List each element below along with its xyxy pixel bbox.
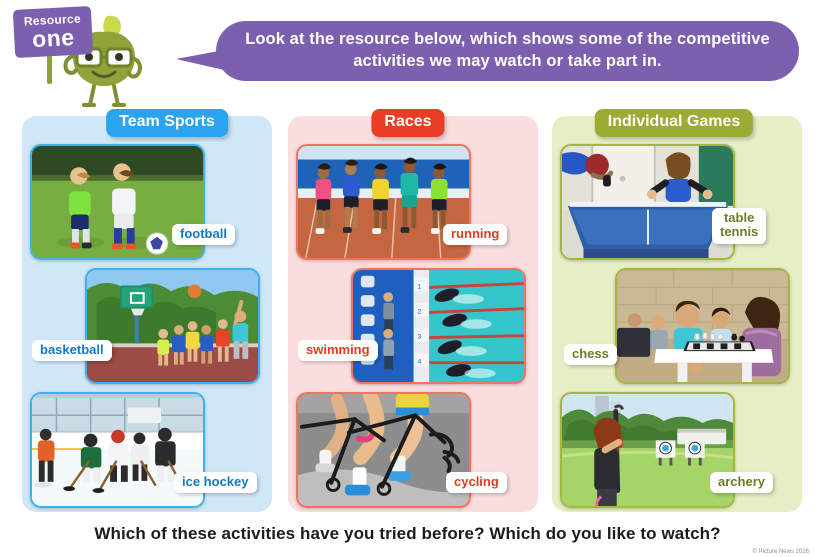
photo-basketball[interactable]: [85, 268, 260, 384]
column-individual-games: Individual Games: [552, 116, 802, 512]
label-ice-hockey: ice hockey: [174, 472, 257, 493]
label-running: running: [443, 224, 507, 245]
photo-chess[interactable]: [615, 268, 790, 384]
copyright-notice: © Picture News 2026: [753, 549, 809, 555]
column-team-sports: Team Sports: [22, 116, 272, 512]
category-badge-team-sports: Team Sports: [106, 109, 228, 137]
category-badge-individual-games: Individual Games: [595, 109, 753, 137]
label-swimming: swimming: [298, 340, 378, 361]
photo-cycling[interactable]: [296, 392, 471, 508]
label-football: football: [172, 224, 235, 245]
logo-line-one: one: [32, 26, 76, 51]
label-table-tennis: table tennis: [712, 208, 766, 244]
instruction-text: Look at the resource below, which shows …: [216, 29, 799, 73]
category-badge-races: Races: [371, 109, 444, 137]
svg-text:2: 2: [417, 308, 421, 315]
footer-question: Which of these activities have you tried…: [0, 524, 815, 544]
svg-text:3: 3: [417, 334, 421, 341]
label-chess: chess: [564, 344, 617, 365]
resource-one-logo: Resource one: [13, 6, 93, 58]
svg-text:4: 4: [417, 359, 421, 366]
photo-swimming[interactable]: 1234: [351, 268, 526, 384]
photo-table-tennis[interactable]: [560, 144, 735, 260]
category-columns: Team Sports: [0, 116, 815, 518]
label-basketball: basketball: [32, 340, 112, 361]
label-archery: archery: [710, 472, 773, 493]
instruction-speech-bubble: Look at the resource below, which shows …: [216, 21, 799, 81]
svg-text:1: 1: [417, 283, 421, 290]
page-header: Resource one Look at the: [0, 0, 815, 112]
label-cycling: cycling: [446, 472, 507, 493]
photo-archery[interactable]: [560, 392, 735, 508]
column-races: Races: [288, 116, 538, 512]
